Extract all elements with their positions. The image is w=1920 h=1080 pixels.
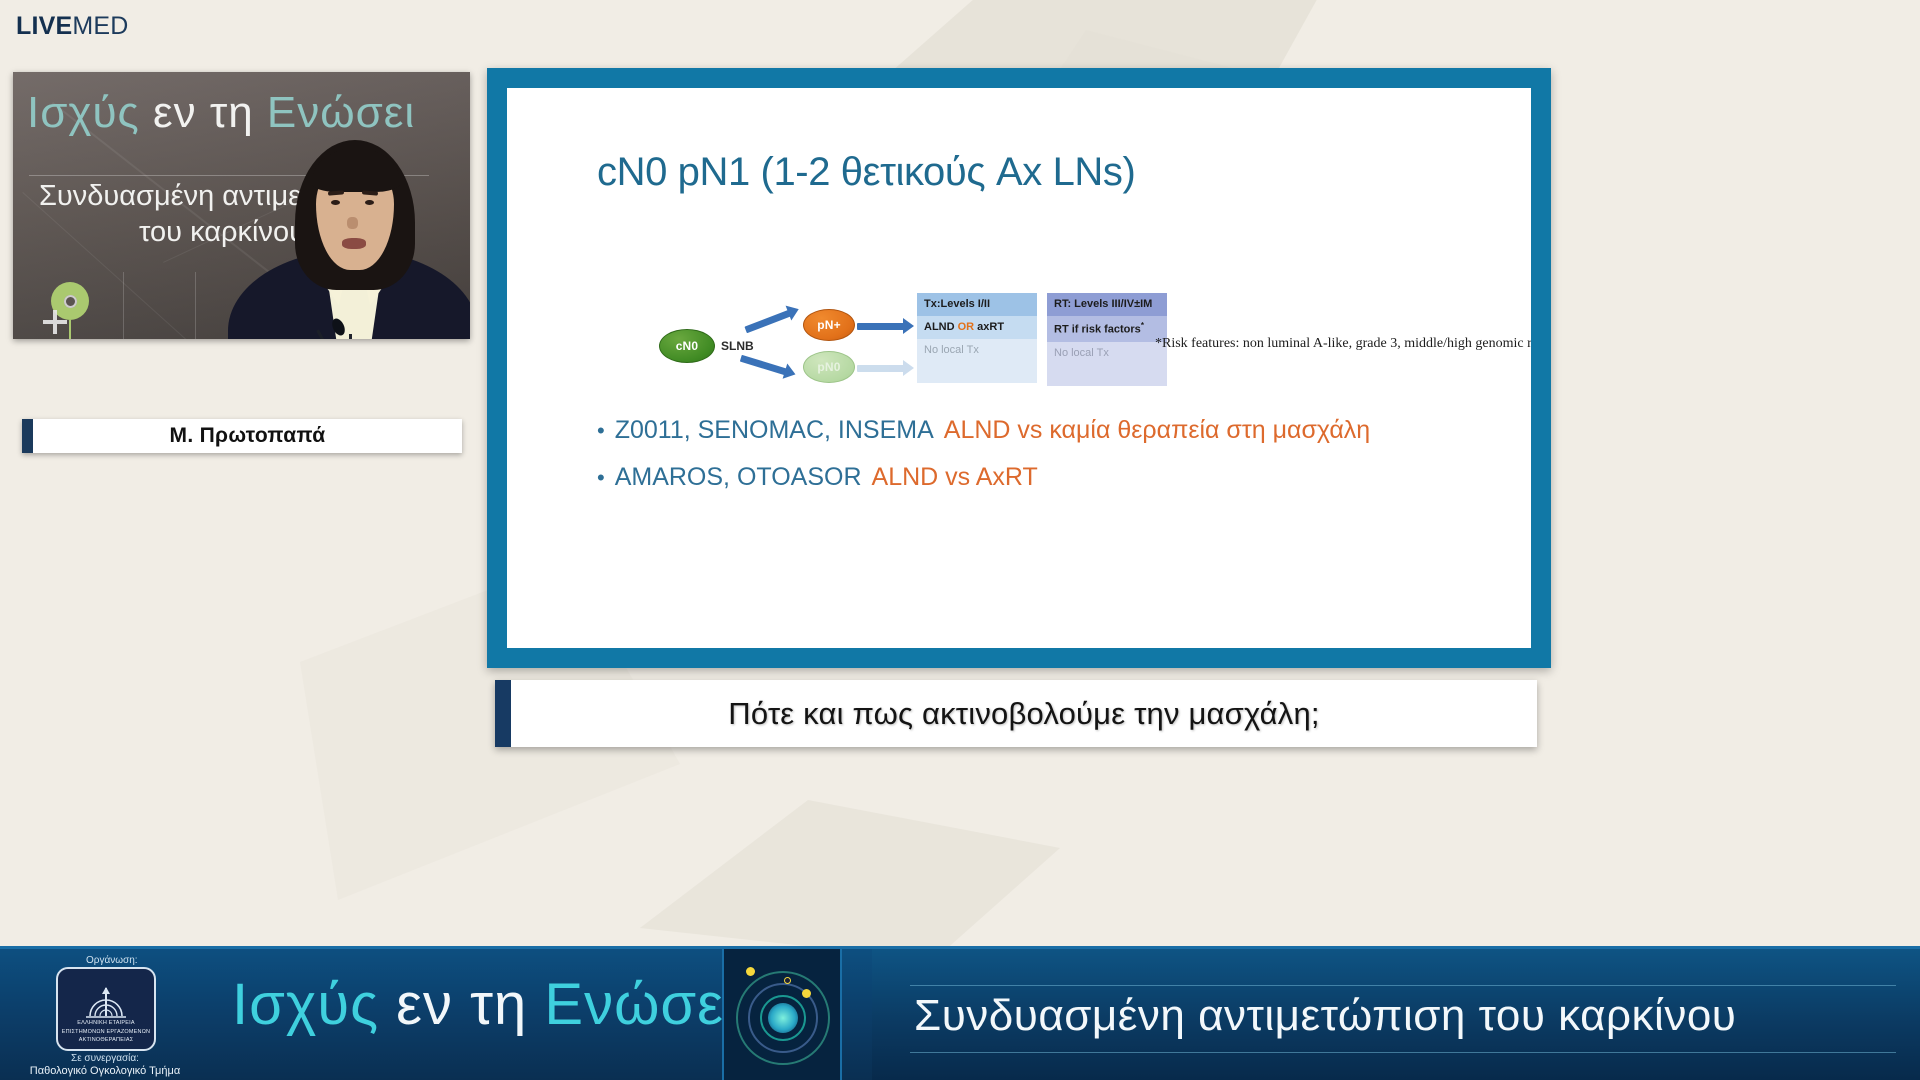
column-cell-no-local-tx-left: No local Tx [917, 339, 1037, 383]
list-item: • AMAROS, OTOASOR ALND vs AxRT [597, 463, 1477, 492]
column-header-rt: RT: Levels III/IV±IM [1047, 293, 1167, 316]
bullet-trials-text: Z0011, SENOMAC, INSEMA [615, 416, 934, 445]
node-pn0: pN0 [803, 351, 855, 383]
cooperation-label: Σε συνεργασία: [0, 1053, 210, 1064]
speaker-name-label: Μ. Πρωτοπαπά [170, 424, 326, 448]
cell-alnd-text: ALND [924, 321, 958, 333]
background-watermark-3 [640, 800, 1060, 960]
cell-rt-text: RT if risk factors [1054, 324, 1141, 336]
livemed-logo[interactable]: LIVEMED [16, 14, 129, 39]
banner-title-mid: εν τη [379, 972, 544, 1037]
organizer-logo-line-3: ΑΚΤΙΝΟΘΕΡΑΠΕΙΑΣ [58, 1036, 154, 1044]
session-caption-text: Πότε και πως ακτινοβολούμε την μασχάλη; [728, 696, 1319, 732]
backdrop-stem-graphic [69, 320, 71, 339]
organizer-logo-line-2: ΕΠΙΣΤΗΜΟΝΩΝ ΕΡΓΑΖΟΜΕΝΩΝ [58, 1028, 154, 1036]
arrow-head [783, 363, 798, 382]
column-header-tx: Tx:Levels I/II [917, 293, 1037, 316]
bullet-marker: • [597, 420, 605, 442]
arrow-shaft [744, 310, 791, 334]
arrow-shaft [740, 355, 788, 376]
app-root: LIVEMED Ισχύς εν τη Ενώσει Συνδυασμένη α… [0, 0, 1920, 1080]
speaker-name-plate: Μ. Πρωτοπαπά [22, 419, 462, 453]
backdrop-subtitle-2: του καρκίνου [139, 216, 305, 249]
backdrop-vline-1 [123, 272, 124, 339]
speaker-nose [347, 217, 358, 229]
banner-event-title: Ισχύς εν τη Ενώσει [232, 971, 738, 1038]
speaker-video-player[interactable]: Ισχύς εν τη Ενώσει Συνδυασμένη αντιμετώπ… [13, 72, 470, 339]
cooperation-text: Παθολογικό Ογκολογικό Τμήμα Γ.Α.Ν.Π. ΜΕΤ… [0, 1065, 210, 1080]
banner-subtitle-text: Συνδυασμένη αντιμετώπιση του καρκίνου [914, 991, 1736, 1041]
banner-rule-bottom [910, 1052, 1896, 1053]
banner-orb-graphic [722, 949, 842, 1080]
slide-title: cN0 pN1 (1-2 θετικούς Ax LNs) [597, 150, 1135, 195]
cell-axrt-text: axRT [974, 321, 1004, 333]
orb-dot-1 [746, 967, 755, 976]
banner-title-tail: Ενώσει [544, 972, 738, 1037]
orb-dot-3 [784, 977, 791, 984]
presentation-slide-frame[interactable]: cN0 pN1 (1-2 θετικούς Ax LNs) cN0 SLNB p… [487, 68, 1551, 668]
arrow-head [786, 302, 802, 321]
cooperation-line-1: Παθολογικό Ογκολογικό Τμήμα [0, 1065, 210, 1079]
radiation-beam-icon [76, 974, 136, 1020]
bullet-comparison-text: ALND vs καμία θεραπεία στη μασχάλη [944, 416, 1370, 445]
diagram-column-tx-levels: Tx:Levels I/II ALND OR axRT No local Tx [917, 293, 1037, 383]
arrow-shaft [857, 323, 905, 330]
cell-asterisk: * [1141, 321, 1144, 330]
arrow-head [903, 360, 914, 376]
slide-bullet-list: • Z0011, SENOMAC, INSEMA ALND vs καμία θ… [597, 416, 1477, 510]
bullet-marker: • [597, 467, 605, 489]
event-banner: Οργάνωση: ΕΛΛΗΝΙΚΗ ΕΤΑΙΡΕΙΑ ΕΠΙΣΤΗΜΟΝΩΝ … [0, 946, 1920, 1080]
session-caption-bar: Πότε και πως ακτινοβολούμε την μασχάλη; [495, 680, 1537, 747]
organizer-logo-line-1: ΕΛΛΗΝΙΚΗ ΕΤΑΙΡΕΙΑ [58, 1019, 154, 1027]
column-cell-no-local-tx-right: No local Tx [1047, 342, 1167, 386]
brand-med-text: MED [72, 12, 128, 40]
list-item: • Z0011, SENOMAC, INSEMA ALND vs καμία θ… [597, 416, 1477, 445]
risk-features-footnote: *Risk features: non luminal A-like, grad… [1155, 336, 1531, 352]
orb-dot-2 [802, 989, 811, 998]
orb-core [768, 1003, 798, 1033]
speaker-eye-left [331, 200, 340, 205]
backdrop-title-mid: εν τη [140, 88, 267, 137]
backdrop-vline-2 [195, 272, 196, 339]
banner-rule-top [910, 985, 1896, 986]
brand-live-text: LIVE [16, 12, 72, 40]
speaker-eye-right [365, 200, 374, 205]
backdrop-title-tail: Ενώσει [267, 88, 415, 137]
diagram-column-rt-levels: RT: Levels III/IV±IM RT if risk factors*… [1047, 293, 1167, 386]
plus-icon[interactable] [43, 310, 67, 334]
node-pn-positive: pN+ [803, 309, 855, 341]
backdrop-title-highlight: Ισχύς [27, 88, 140, 137]
node-cn0: cN0 [659, 329, 715, 363]
presentation-slide: cN0 pN1 (1-2 θετικούς Ax LNs) cN0 SLNB p… [507, 88, 1531, 648]
column-cell-rt-risk-factors: RT if risk factors* [1047, 316, 1167, 342]
label-slnb: SLNB [721, 339, 754, 353]
organizer-label: Οργάνωση: [86, 955, 138, 966]
column-cell-alnd-or-axrt: ALND OR axRT [917, 316, 1037, 339]
speaker-mouth [342, 238, 366, 249]
backdrop-title: Ισχύς εν τη Ενώσει [27, 88, 415, 138]
banner-title-highlight: Ισχύς [232, 972, 379, 1037]
banner-content: Οργάνωση: ΕΛΛΗΝΙΚΗ ΕΤΑΙΡΕΙΑ ΕΠΙΣΤΗΜΟΝΩΝ … [0, 949, 1920, 1080]
arrow-shaft [857, 365, 905, 372]
banner-subtitle-panel: Συνδυασμένη αντιμετώπιση του καρκίνου [872, 949, 1920, 1080]
organizer-logo: ΕΛΛΗΝΙΚΗ ΕΤΑΙΡΕΙΑ ΕΠΙΣΤΗΜΟΝΩΝ ΕΡΓΑΖΟΜΕΝΩ… [56, 967, 156, 1051]
cell-or-text: OR [958, 321, 975, 333]
arrow-head [903, 318, 914, 334]
bullet-comparison-text: ALND vs AxRT [872, 463, 1038, 492]
organizer-logo-text: ΕΛΛΗΝΙΚΗ ΕΤΑΙΡΕΙΑ ΕΠΙΣΤΗΜΟΝΩΝ ΕΡΓΑΖΟΜΕΝΩ… [58, 1019, 154, 1044]
microphone-stand [349, 334, 352, 339]
bullet-trials-text: AMAROS, OTOASOR [615, 463, 862, 492]
